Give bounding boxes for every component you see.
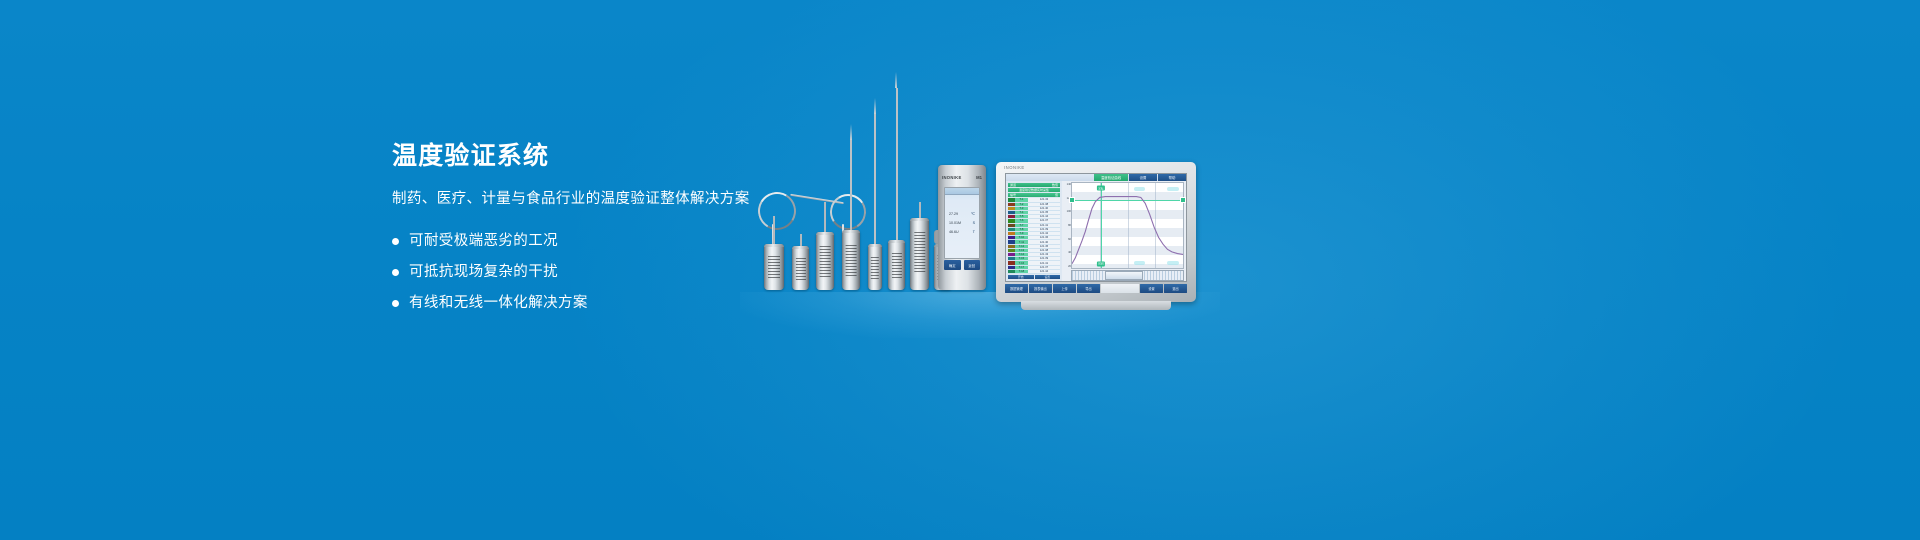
handheld-keypad: 确定 返回 [944,260,980,270]
chart-ghost-badge [1167,187,1178,191]
channel-id-cell: T-18 [1015,270,1028,273]
channel-value-cell: 121.40 [1028,240,1060,243]
channel-id-cell: T-17 [1015,266,1028,269]
sensor-probe [868,218,882,290]
readout-value: T [973,230,975,234]
sensor-probe [764,216,784,290]
channel-table-header: 通道 数值 [1008,183,1060,187]
bottom-button-data-management[interactable]: 数据管理 [1005,284,1028,293]
feature-label: 可耐受极端恶劣的工况 [409,231,558,251]
chart-horizontal-scrollbar[interactable] [1071,270,1184,281]
channel-rows-container: T-1121.43T-2121.38T-3121.40T-4121.35T-51… [1008,198,1060,274]
channel-value-cell: 121.36 [1028,236,1060,239]
bullet-dot-icon [392,238,399,245]
list-item: 46.6U T [949,227,975,236]
bottom-button-upload[interactable]: 上传 [1053,284,1076,293]
chart-y-axis: 14012010080604020 [1063,182,1071,269]
probe-label [846,245,857,278]
monitor-workstation: INONIKE 温度验证曲线 设置 帮助 通道 数值 温度验证数据 [996,162,1196,302]
channel-value-cell: 121.42 [1028,232,1060,235]
product-photo-group: INONIKE M1 27.29 ℃ 10.01M S 46.6U [720,120,1240,320]
channel-color-swatch [1008,203,1015,206]
bottom-button-settings[interactable]: 设置 [1140,284,1163,293]
channel-color-swatch [1008,198,1015,201]
chart-plot-area[interactable]: 光标 时间 [1071,182,1184,269]
handheld-screen-titlebar [945,188,979,195]
channel-id-cell: T-3 [1015,207,1028,210]
monitor-stand [1021,301,1171,310]
channel-value-cell: 121.38 [1028,249,1060,252]
handheld-brand-label: INONIKE [942,175,962,180]
toolbar-help-button[interactable]: 帮助 [1158,174,1186,181]
chart-y-tick: 80 [1063,224,1071,227]
channel-id-cell: T-2 [1015,203,1028,206]
channel-value-cell: 121.43 [1028,253,1060,256]
monitor-screen: 温度验证曲线 设置 帮助 通道 数值 温度验证数据实时采集 编号 [1005,173,1187,282]
bottom-button-exit[interactable]: 退出 [1164,284,1187,293]
channel-color-swatch [1008,253,1015,256]
column-header-id: 编号 [1010,193,1016,197]
channel-color-swatch [1008,266,1015,269]
software-workarea: 通道 数值 温度验证数据实时采集 编号 值 T-1121.43T-2121.38… [1006,181,1186,281]
probe-label [871,257,879,281]
channel-color-swatch [1008,224,1015,227]
channel-table-panel: 通道 数值 温度验证数据实时采集 编号 值 T-1121.43T-2121.38… [1006,181,1062,281]
table-row[interactable]: T-18121.44 [1008,270,1060,274]
channel-color-swatch [1008,207,1015,210]
channel-id-cell: T-14 [1015,253,1028,256]
channel-value-cell: 121.39 [1028,228,1060,231]
probe-needle-icon [850,140,852,230]
channel-id-cell: T-12 [1015,245,1028,248]
handheld-reader-device: INONIKE M1 27.29 ℃ 10.01M S 46.6U [938,165,986,290]
probe-label [820,246,831,278]
channel-value-cell: 121.44 [1028,270,1060,273]
handheld-back-key[interactable]: 返回 [964,260,981,270]
chart-y-tick: 100 [1063,210,1071,213]
probe-needle-icon [896,88,898,240]
channel-value-cell: 121.35 [1028,211,1060,214]
channel-id-cell: T-15 [1015,257,1028,260]
sensor-probe [816,202,834,290]
channel-settings-button[interactable]: 设置 [1035,275,1061,279]
probe-stem-icon [824,202,826,234]
bottom-toolbar-spacer [1101,284,1139,293]
channel-id-cell: T-6 [1015,219,1028,222]
chart-plot-row: 14012010080604020 [1063,182,1184,269]
channel-value-cell: 121.45 [1028,245,1060,248]
channel-value-cell: 121.41 [1028,224,1060,227]
scrollbar-thumb[interactable] [1105,271,1143,280]
channel-id-cell: T-9 [1015,232,1028,235]
channel-id-cell: T-7 [1015,224,1028,227]
channel-value-cell: 121.43 [1028,198,1060,201]
handheld-brand-bar: INONIKE M1 [942,173,982,182]
channel-id-cell: T-4 [1015,211,1028,214]
handheld-readout-list: 27.29 ℃ 10.01M S 46.6U T [945,195,979,236]
channel-value-cell: 121.37 [1028,266,1060,269]
channel-id-cell: T-1 [1015,198,1028,201]
channel-color-swatch [1008,219,1015,222]
chart-y-tick: 40 [1063,251,1071,254]
channel-color-swatch [1008,240,1015,243]
channel-value-cell: 121.37 [1028,219,1060,222]
sensor-probe [792,220,809,290]
channel-start-button[interactable]: 开始 [1008,275,1034,279]
toolbar-left-filler [1006,174,1094,181]
probe-label [795,258,805,281]
column-header-value: 值 [1055,193,1058,197]
feature-label: 可抵抗现场复杂的干扰 [409,262,558,282]
bottom-button-export[interactable]: 导出 [1077,284,1100,293]
channel-color-swatch [1008,232,1015,235]
chart-ghost-badge [1134,187,1145,191]
sensor-probe [888,214,905,290]
readout-label: 27.29 [949,212,958,216]
channel-value-cell: 121.40 [1028,207,1060,210]
software-toolbar: 温度验证曲线 设置 帮助 [1006,174,1186,181]
channel-column-headers: 编号 值 [1008,193,1060,197]
channel-header-left: 通道 [1010,183,1016,187]
channel-id-cell: T-11 [1015,241,1028,244]
probe-label [891,253,901,280]
feature-label: 有线和无线一体化解决方案 [409,293,588,313]
chart-limit-handle-right[interactable] [1180,197,1186,203]
readout-label: 46.6U [949,230,959,234]
bullet-dot-icon [392,300,399,307]
probe-label [914,232,925,274]
chart-cursor-top-label[interactable]: 光标 [1097,186,1105,191]
toolbar-settings-button[interactable]: 设置 [1129,174,1157,181]
channel-id-cell: T-13 [1015,249,1028,252]
sensor-probe [910,202,929,290]
chart-ghost-badge [1134,261,1145,265]
channel-table-subheader: 温度验证数据实时采集 [1008,188,1060,192]
hero-banner: 温度验证系统 制药、医疗、计量与食品行业的温度验证整体解决方案 可耐受极端恶劣的… [0,0,1920,540]
channel-color-swatch [1008,215,1015,218]
channel-id-cell: T-10 [1015,236,1028,239]
software-bottom-toolbar: 数据管理 报表输出 上传 导出 设置 退出 [1005,284,1187,293]
chart-y-tick: 20 [1063,265,1071,268]
channel-color-swatch [1008,270,1015,273]
probe-needle-icon [874,114,876,244]
chart-limit-handle-left[interactable] [1069,197,1075,203]
channel-id-cell: T-16 [1015,262,1028,265]
channel-color-swatch [1008,236,1015,239]
readout-value: S [973,221,975,225]
list-item: 27.29 ℃ [949,209,975,218]
channel-color-swatch [1008,245,1015,248]
monitor-brand-label: INONIKE [1004,165,1025,170]
chart-series-line [1072,197,1183,264]
channel-color-swatch [1008,211,1015,214]
chart-cursor-bottom-label[interactable]: 时间 [1097,261,1105,266]
channel-color-swatch [1008,257,1015,260]
chart-ghost-badge [1167,261,1178,265]
channel-value-cell: 121.41 [1028,261,1060,264]
channel-header-right: 数值 [1052,183,1058,187]
channel-color-swatch [1008,249,1015,252]
list-item: 10.01M S [949,218,975,227]
chart-panel: 14012010080604020 [1062,181,1186,281]
channel-id-cell: T-8 [1015,228,1028,231]
readout-label: 10.01M [949,221,961,225]
handheld-confirm-key[interactable]: 确定 [944,260,961,270]
bottom-button-report-output[interactable]: 报表输出 [1029,284,1052,293]
channel-value-cell: 121.38 [1028,203,1060,206]
channel-color-swatch [1008,261,1015,264]
bullet-dot-icon [392,269,399,276]
chart-series-svg [1072,183,1183,268]
handheld-screen: 27.29 ℃ 10.01M S 46.6U T [944,187,980,259]
chart-y-tick: 60 [1063,238,1071,241]
channel-id-cell: T-5 [1015,215,1028,218]
channel-value-cell: 121.39 [1028,257,1060,260]
channel-value-cell: 121.44 [1028,215,1060,218]
handheld-model-label: M1 [976,175,982,180]
probe-label [768,256,780,280]
channel-table-footer: 开始 设置 [1008,275,1060,279]
probe-stem-icon [773,216,775,246]
channel-color-swatch [1008,228,1015,231]
readout-value: ℃ [971,212,975,216]
tab-temperature-curve[interactable]: 温度验证曲线 [1094,174,1128,181]
sensor-probe [842,198,860,290]
chart-y-tick: 140 [1063,183,1071,186]
